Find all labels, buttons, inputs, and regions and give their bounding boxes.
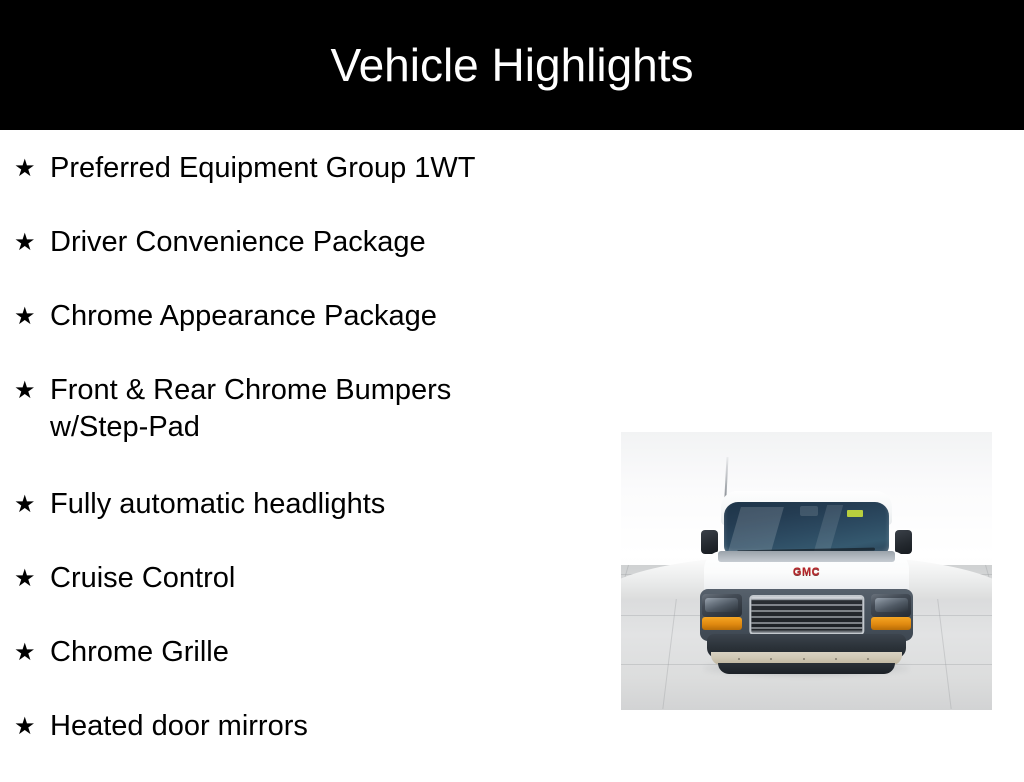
side-mirror-left	[701, 530, 718, 554]
windshield	[724, 502, 889, 556]
list-item-label: Chrome Grille	[50, 634, 550, 671]
slide-body: ★ Preferred Equipment Group 1WT ★ Driver…	[0, 130, 1024, 768]
list-item-label: Cruise Control	[50, 560, 550, 597]
van-cowl	[718, 551, 894, 562]
list-item: ★ Cruise Control	[0, 560, 600, 634]
list-item: ★ Preferred Equipment Group 1WT	[0, 150, 600, 224]
vehicle-photo: GMC	[621, 432, 992, 710]
star-bullet-icon: ★	[14, 150, 36, 187]
star-bullet-icon: ★	[14, 224, 36, 261]
list-item: ★ Fully automatic headlights	[0, 486, 600, 560]
list-item-label: Fully automatic headlights	[50, 486, 550, 523]
lower-valance	[718, 663, 894, 674]
list-item: ★ Chrome Grille	[0, 634, 600, 708]
turn-signal-right	[871, 617, 910, 630]
star-bullet-icon: ★	[14, 560, 36, 597]
side-mirror-right	[895, 530, 912, 554]
list-item-label: Heated door mirrors	[50, 708, 550, 745]
headlight-right	[871, 594, 910, 618]
list-item-label: Preferred Equipment Group 1WT	[50, 150, 550, 187]
star-bullet-icon: ★	[14, 634, 36, 671]
windshield-sticker	[847, 510, 863, 517]
turn-signal-left	[702, 617, 741, 630]
vehicle-highlights-list: ★ Preferred Equipment Group 1WT ★ Driver…	[0, 130, 600, 782]
page-title: Vehicle Highlights	[330, 42, 693, 88]
list-item: ★ Heated door mirrors	[0, 708, 600, 782]
gmc-badge: GMC	[793, 566, 820, 578]
star-bullet-icon: ★	[14, 372, 36, 409]
list-item-label: Driver Convenience Package	[50, 224, 550, 261]
list-item: ★ Driver Convenience Package	[0, 224, 600, 298]
list-item: ★ Chrome Appearance Package	[0, 298, 600, 372]
chrome-grille	[749, 595, 864, 635]
star-bullet-icon: ★	[14, 486, 36, 523]
star-bullet-icon: ★	[14, 298, 36, 335]
rearview-mirror	[800, 506, 818, 516]
vehicle-photo-canvas: GMC	[621, 432, 992, 710]
slide-header: Vehicle Highlights	[0, 0, 1024, 130]
list-item-label: Chrome Appearance Package	[50, 298, 550, 335]
headlight-left	[702, 594, 741, 618]
list-item: ★ Front & Rear Chrome Bumpers w/Step-Pad	[0, 372, 600, 486]
list-item-label: Front & Rear Chrome Bumpers w/Step-Pad	[50, 372, 550, 446]
gmc-savana-van: GMC	[691, 465, 923, 679]
star-bullet-icon: ★	[14, 708, 36, 745]
